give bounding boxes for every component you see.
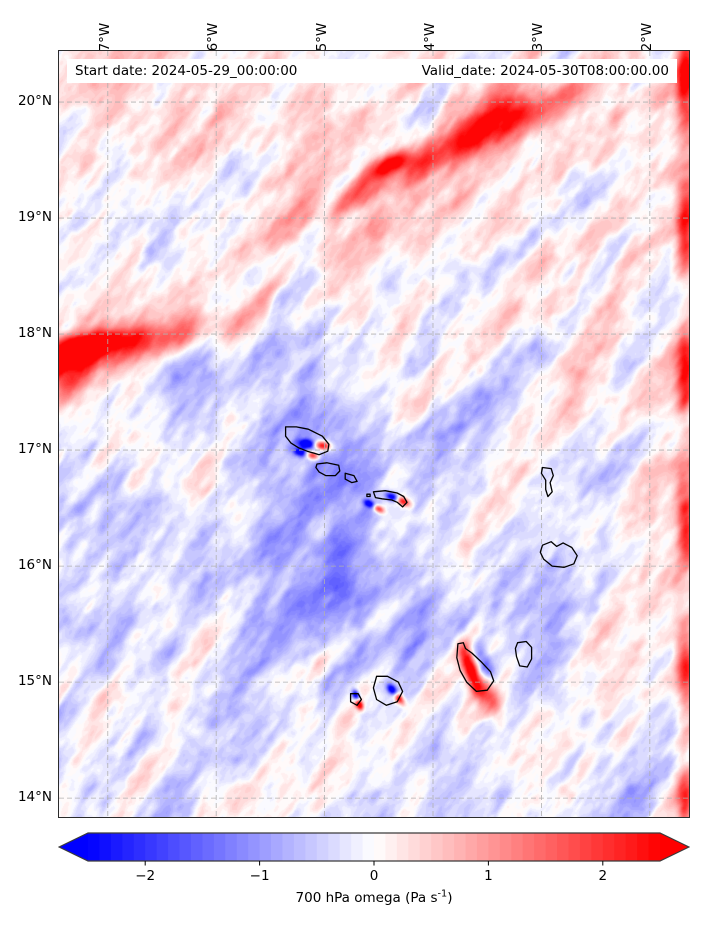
colorbar-segment bbox=[328, 833, 340, 861]
colorbar-segment bbox=[614, 833, 626, 861]
colorbar-segment bbox=[122, 833, 134, 861]
info-banner: Start date: 2024-05-29_00:00:00 Valid_da… bbox=[67, 59, 677, 83]
colorbar-tick-label: −2 bbox=[135, 868, 155, 884]
colorbar-extend-low bbox=[59, 833, 88, 861]
colorbar-segment bbox=[225, 833, 237, 861]
colorbar-tick-label: 2 bbox=[599, 868, 608, 884]
colorbar-segment bbox=[294, 833, 306, 861]
valid-date-text: Valid_date: 2024-05-30T08:00:00.00 bbox=[422, 63, 669, 79]
colorbar-segment bbox=[191, 833, 203, 861]
colorbar-segment bbox=[202, 833, 214, 861]
colorbar-segment bbox=[282, 833, 294, 861]
colorbar-segment bbox=[477, 833, 489, 861]
colorbar-segment bbox=[351, 833, 363, 861]
colorbar-segment bbox=[145, 833, 157, 861]
colorbar[interactable]: −2−1012 700 hPa omega (Pa s-1) bbox=[58, 832, 690, 866]
map-axes[interactable]: Start date: 2024-05-29_00:00:00 Valid_da… bbox=[58, 50, 690, 818]
colorbar-segment bbox=[466, 833, 478, 861]
y-tick-label: 17°N bbox=[0, 441, 52, 457]
colorbar-segment bbox=[637, 833, 649, 861]
colorbar-segment bbox=[374, 833, 386, 861]
colorbar-segment bbox=[237, 833, 249, 861]
y-tick-label: 16°N bbox=[0, 557, 52, 573]
colorbar-segment bbox=[431, 833, 443, 861]
colorbar-segment bbox=[557, 833, 569, 861]
colorbar-segment bbox=[168, 833, 180, 861]
colorbar-segment bbox=[408, 833, 420, 861]
colorbar-segment bbox=[546, 833, 558, 861]
colorbar-segment bbox=[317, 833, 329, 861]
colorbar-tick-label: 0 bbox=[370, 868, 379, 884]
colorbar-segment bbox=[580, 833, 592, 861]
colorbar-segment bbox=[88, 833, 100, 861]
colorbar-segment bbox=[454, 833, 466, 861]
colorbar-segment bbox=[488, 833, 500, 861]
colorbar-segment bbox=[534, 833, 546, 861]
colorbar-segment bbox=[385, 833, 397, 861]
colorbar-axis-label: 700 hPa omega (Pa s-1) bbox=[58, 890, 690, 906]
colorbar-segment bbox=[591, 833, 603, 861]
colorbar-label-text: 700 hPa omega (Pa s bbox=[296, 890, 438, 906]
colorbar-segment bbox=[134, 833, 146, 861]
y-tick-label: 15°N bbox=[0, 673, 52, 689]
colorbar-segment bbox=[180, 833, 192, 861]
y-tick-label: 19°N bbox=[0, 209, 52, 225]
colorbar-segment bbox=[397, 833, 409, 861]
colorbar-segment bbox=[340, 833, 352, 861]
colorbar-extend-high bbox=[660, 833, 689, 861]
colorbar-segment bbox=[305, 833, 317, 861]
colorbar-segment bbox=[649, 833, 661, 861]
colorbar-tick-label: −1 bbox=[250, 868, 270, 884]
y-tick-label: 14°N bbox=[0, 789, 52, 805]
colorbar-segment bbox=[420, 833, 432, 861]
omega-heatmap bbox=[59, 51, 689, 817]
colorbar-segment bbox=[363, 833, 375, 861]
colorbar-segment bbox=[248, 833, 260, 861]
colorbar-segment bbox=[214, 833, 226, 861]
colorbar-segment bbox=[260, 833, 272, 861]
start-date-text: Start date: 2024-05-29_00:00:00 bbox=[75, 63, 297, 79]
colorbar-gradient bbox=[58, 832, 690, 868]
colorbar-segment bbox=[603, 833, 615, 861]
colorbar-segment bbox=[99, 833, 111, 861]
omega-field-container bbox=[59, 51, 689, 817]
colorbar-segment bbox=[111, 833, 123, 861]
colorbar-label-exponent: -1 bbox=[437, 889, 447, 900]
y-tick-label: 20°N bbox=[0, 93, 52, 109]
colorbar-segment bbox=[511, 833, 523, 861]
y-tick-label: 18°N bbox=[0, 325, 52, 341]
colorbar-label-suffix: ) bbox=[447, 890, 452, 906]
colorbar-segment bbox=[626, 833, 638, 861]
colorbar-tick-label: 1 bbox=[484, 868, 493, 884]
colorbar-segment bbox=[443, 833, 455, 861]
colorbar-segment bbox=[157, 833, 169, 861]
figure-canvas: 14°N15°N16°N17°N18°N19°N20°N 27°W26°W25°… bbox=[0, 0, 703, 936]
colorbar-segment bbox=[500, 833, 512, 861]
colorbar-segment bbox=[568, 833, 580, 861]
colorbar-segment bbox=[271, 833, 283, 861]
colorbar-segment bbox=[523, 833, 535, 861]
